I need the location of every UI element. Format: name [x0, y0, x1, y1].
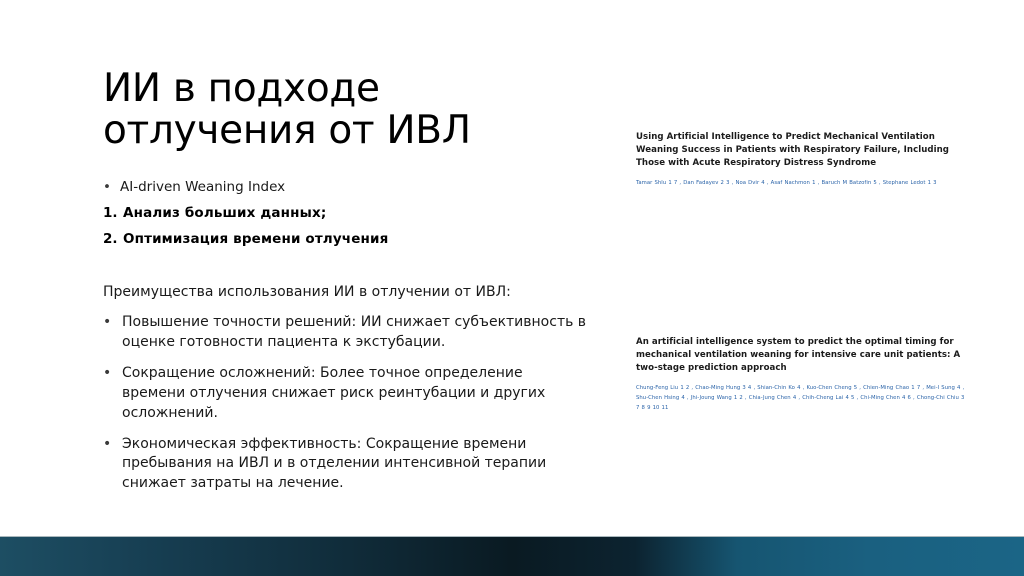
slide-content-column: ИИ в подходе отлучения от ИВЛ • AI-drive…: [103, 68, 589, 505]
list-number: 1.: [103, 204, 123, 224]
paper-citation-card: Using Artificial Intelligence to Predict…: [636, 131, 966, 189]
bullet-icon: •: [103, 178, 120, 198]
bottom-banner: [0, 537, 1024, 576]
slide-canvas: ИИ в подходе отлучения от ИВЛ • AI-drive…: [0, 0, 1024, 576]
paper-authors: Chung-Feng Liu 1 2 , Chao-Ming Hung 3 4 …: [636, 384, 966, 413]
body-content: • AI-driven Weaning Index 1. Анализ боль…: [103, 178, 589, 494]
list-item: • Экономическая эффективность: Сокращени…: [103, 435, 589, 495]
paper-screenshots-column: Using Artificial Intelligence to Predict…: [636, 100, 966, 460]
bullet-icon: •: [103, 435, 122, 455]
paper-authors: Tamar Shlu 1 7 , Dan Fadayev 2 3 , Noa D…: [636, 179, 966, 189]
numbered-list-label: Оптимизация времени отлучения: [123, 230, 589, 250]
numbered-list-item: 2. Оптимизация времени отлучения: [103, 230, 589, 250]
list-item: • Повышение точности решений: ИИ снижает…: [103, 313, 589, 353]
numbered-list-label: Анализ больших данных;: [123, 204, 589, 224]
list-number: 2.: [103, 230, 123, 250]
advantages-intro-text: Преимущества использования ИИ в отлучени…: [103, 282, 589, 302]
paper-title: Using Artificial Intelligence to Predict…: [636, 131, 966, 170]
list-item-label: Экономическая эффективность: Сокращение …: [122, 435, 589, 495]
paper-title: An artificial intelligence system to pre…: [636, 336, 966, 375]
paper-citation-card: An artificial intelligence system to pre…: [636, 336, 966, 414]
page-title: ИИ в подходе отлучения от ИВЛ: [103, 68, 589, 152]
list-item-label: Повышение точности решений: ИИ снижает с…: [122, 313, 589, 353]
bullet-icon: •: [103, 364, 122, 384]
bullet-icon: •: [103, 313, 122, 333]
list-item: • Сокращение осложнений: Более точное оп…: [103, 364, 589, 424]
list-item-label: AI-driven Weaning Index: [120, 178, 589, 198]
list-item-label: Сокращение осложнений: Более точное опре…: [122, 364, 589, 424]
list-item: • AI-driven Weaning Index: [103, 178, 589, 198]
numbered-list-item: 1. Анализ больших данных;: [103, 204, 589, 224]
